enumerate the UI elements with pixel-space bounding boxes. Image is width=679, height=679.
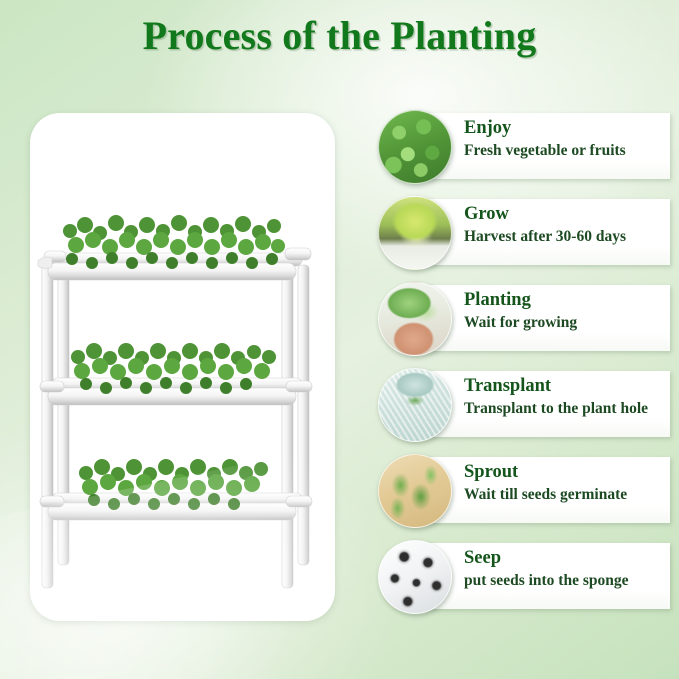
tier-3: [40, 459, 312, 520]
step-planting-text: Planting Wait for growing: [464, 289, 664, 333]
product-image-card: [30, 113, 335, 621]
infographic-root: Process of the Planting: [0, 0, 679, 679]
step-planting[interactable]: Planting Wait for growing: [374, 282, 670, 358]
step-planting-desc: Wait for growing: [464, 313, 664, 333]
tier-1: [38, 215, 311, 280]
step-planting-title: Planting: [464, 289, 664, 313]
step-seep[interactable]: Seep put seeds into the sponge: [374, 540, 670, 616]
step-seep-title: Seep: [464, 547, 664, 571]
step-enjoy-desc: Fresh vegetable or fruits: [464, 141, 664, 161]
hydroponic-system-illustration: [30, 113, 335, 621]
step-sprout-text: Sprout Wait till seeds germinate: [464, 461, 664, 505]
lettuce-harvest-icon: [378, 110, 452, 184]
frame-legs: [42, 258, 309, 588]
step-grow-title: Grow: [464, 203, 664, 227]
step-grow[interactable]: Grow Harvest after 30-60 days: [374, 196, 670, 272]
step-grow-text: Grow Harvest after 30-60 days: [464, 203, 664, 247]
step-grow-desc: Harvest after 30-60 days: [464, 227, 664, 247]
step-sprout-desc: Wait till seeds germinate: [464, 485, 664, 505]
step-seep-text: Seep put seeds into the sponge: [464, 547, 664, 591]
net-pot-icon: [378, 368, 452, 442]
hand-seedling-icon: [378, 282, 452, 356]
tier-1-plants: [63, 215, 285, 269]
step-transplant-title: Transplant: [464, 375, 664, 399]
step-sprout[interactable]: Sprout Wait till seeds germinate: [374, 454, 670, 530]
steps-list: Enjoy Fresh vegetable or fruits Grow Har…: [374, 110, 670, 642]
step-enjoy-title: Enjoy: [464, 117, 664, 141]
step-transplant-desc: Transplant to the plant hole: [464, 399, 664, 419]
step-enjoy-text: Enjoy Fresh vegetable or fruits: [464, 117, 664, 161]
tier-2: [40, 343, 312, 405]
sponge-holes-icon: [378, 540, 452, 614]
growing-lettuce-icon: [378, 196, 452, 270]
step-seep-desc: put seeds into the sponge: [464, 571, 664, 591]
sprouting-seedlings-icon: [378, 454, 452, 528]
page-title: Process of the Planting: [0, 12, 679, 59]
step-sprout-title: Sprout: [464, 461, 664, 485]
step-transplant-text: Transplant Transplant to the plant hole: [464, 375, 664, 419]
step-transplant[interactable]: Transplant Transplant to the plant hole: [374, 368, 670, 444]
step-enjoy[interactable]: Enjoy Fresh vegetable or fruits: [374, 110, 670, 186]
